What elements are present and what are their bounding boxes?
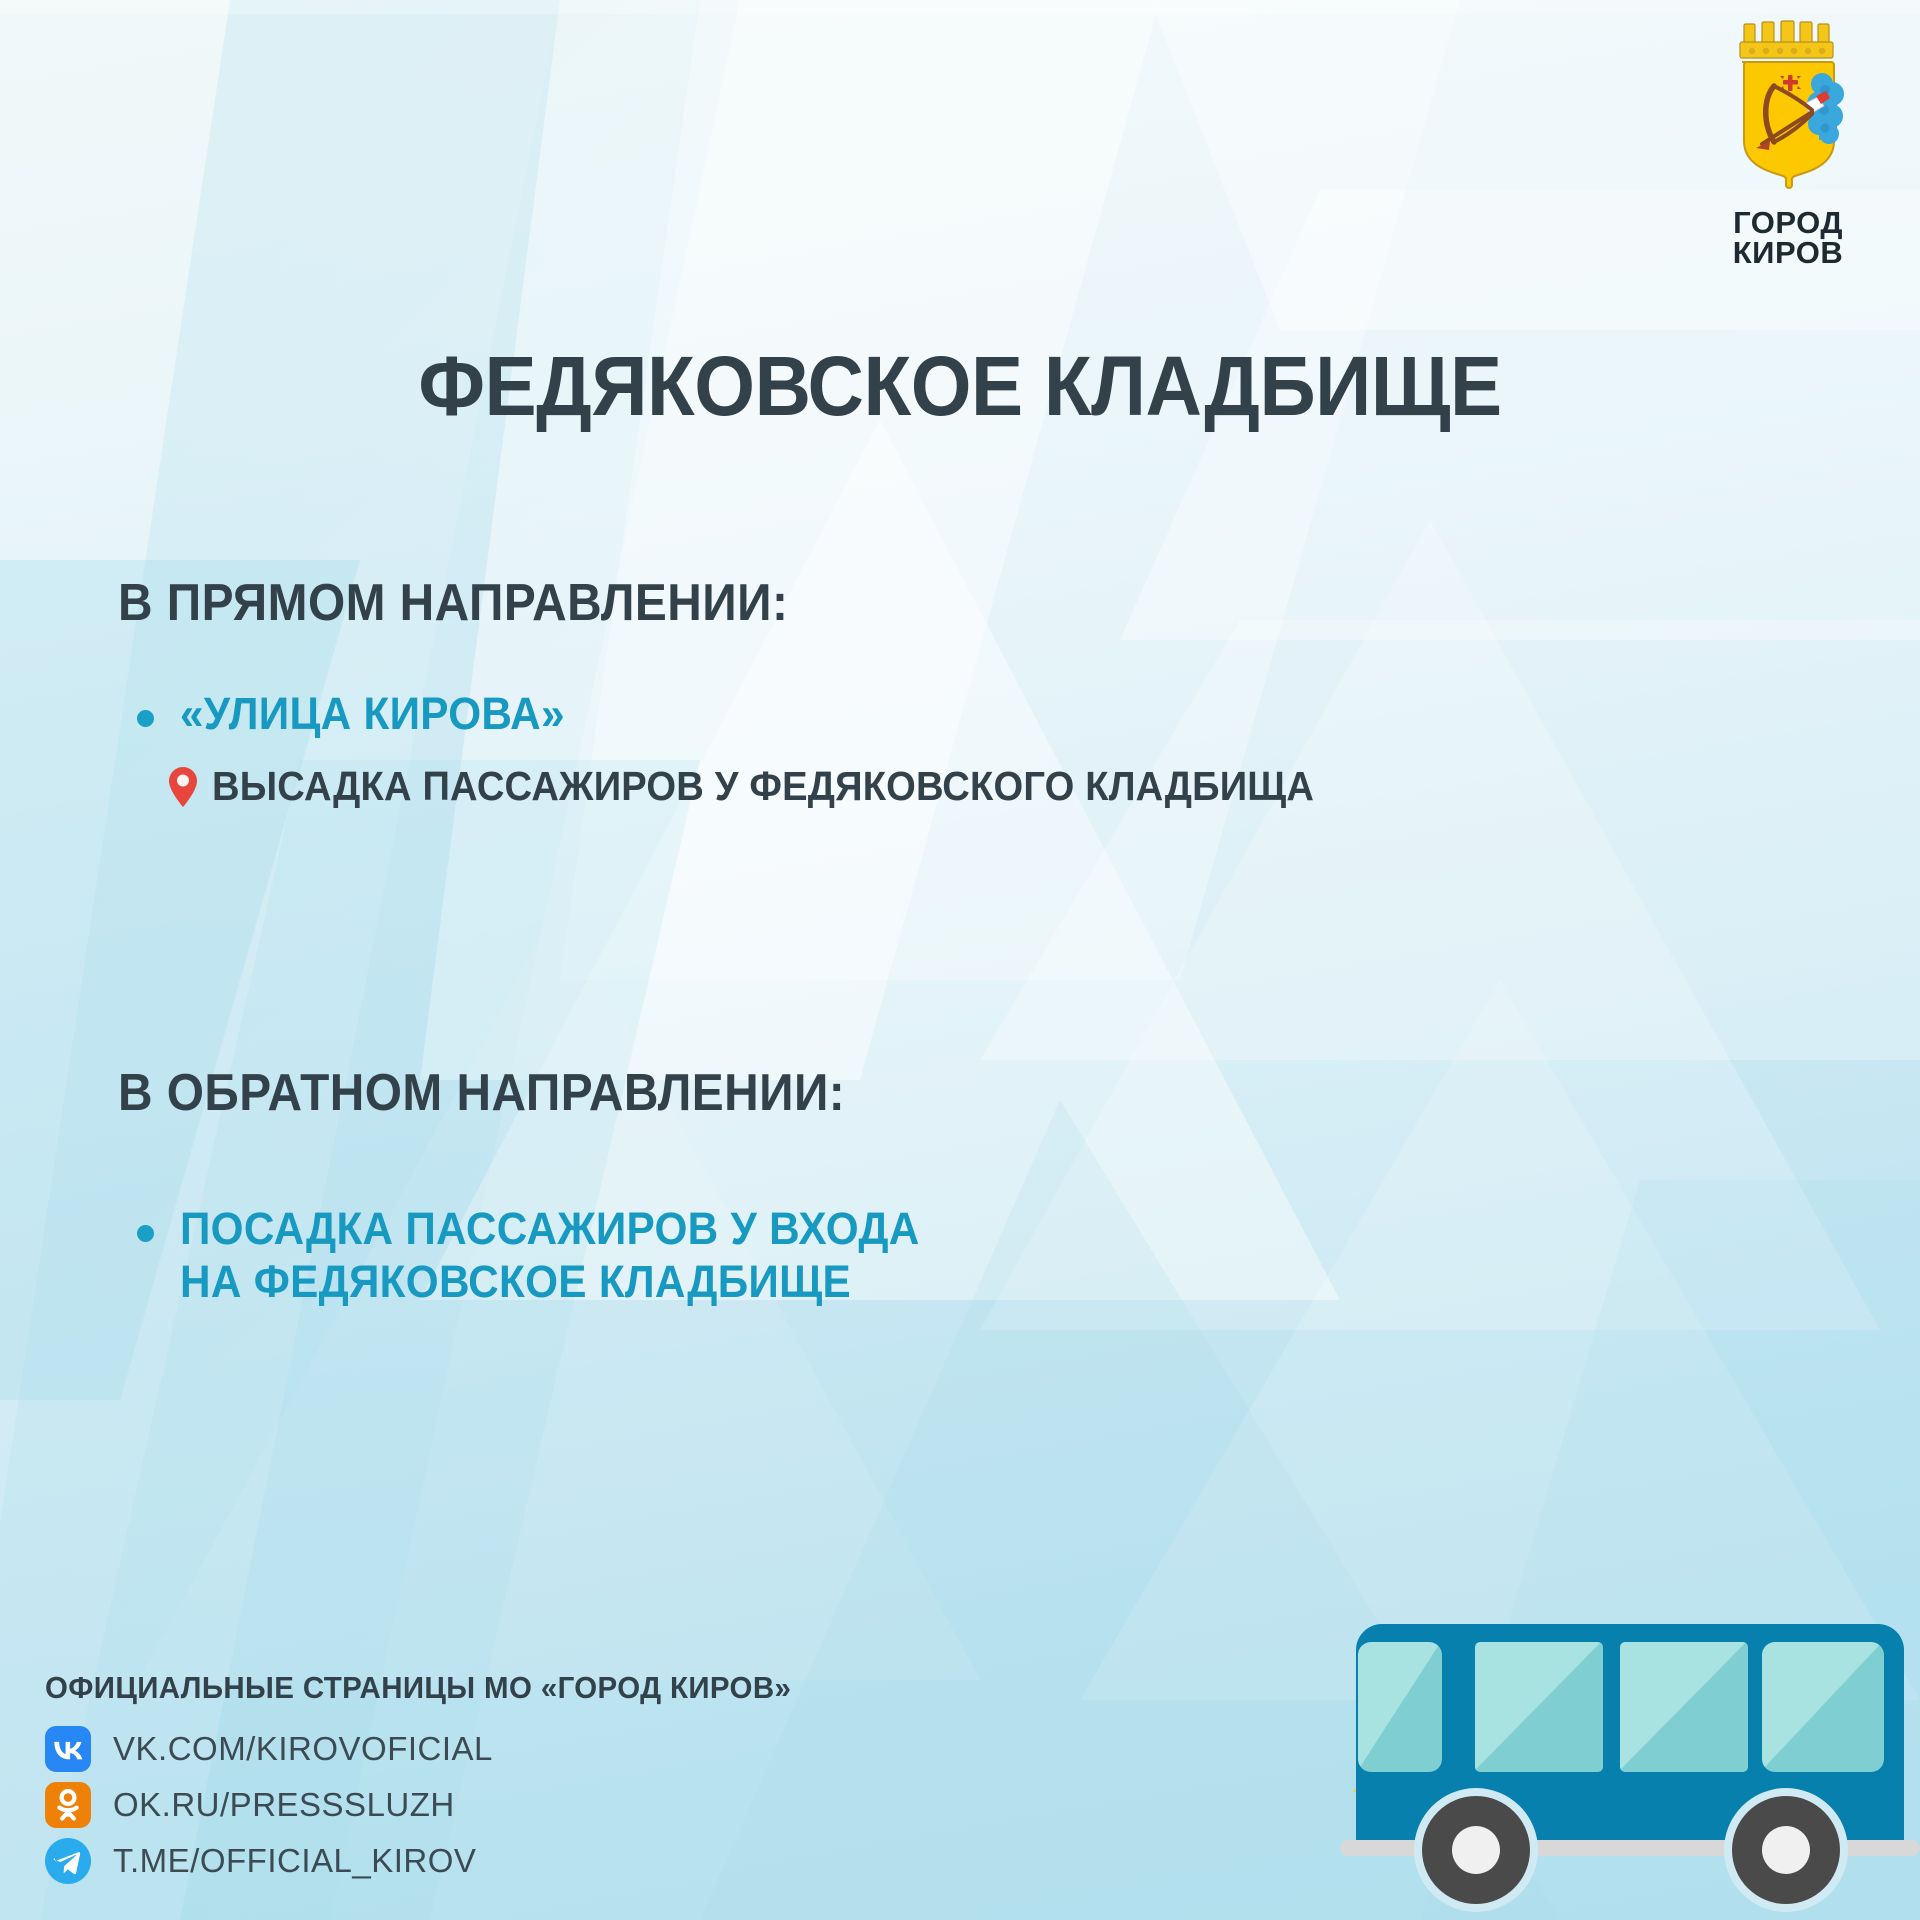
poster-canvas: ГОРОД КИРОВ ФЕДЯКОВСКОЕ КЛАДБИЩЕ В ПРЯМО… [0,0,1920,1920]
footer: ОФИЦИАЛЬНЫЕ СТРАНИЦЫ МО «ГОРОД КИРОВ» VK… [45,1670,1045,1886]
city-logo: ГОРОД КИРОВ [1698,18,1878,268]
social-link-vk[interactable]: VK.COM/KIROVOFICIAL [45,1724,1045,1774]
stop-name-reverse: ПОСАДКА ПАССАЖИРОВ У ВХОДА НА ФЕДЯКОВСКО… [180,1203,920,1308]
vk-icon [45,1726,91,1772]
page-title: ФЕДЯКОВСКОЕ КЛАДБИЩЕ [67,338,1853,435]
stop-detail-text-forward: ВЫСАДКА ПАССАЖИРОВ У ФЕДЯКОВСКОГО КЛАДБИ… [212,763,1314,810]
map-pin-icon [168,766,198,808]
stop-name-reverse-line-1: ПОСАДКА ПАССАЖИРОВ У ВХОДА [180,1203,920,1256]
ok-icon [45,1782,91,1828]
bullet-dot-icon [137,710,154,727]
section-heading-reverse: В ОБРАТНОМ НАПРАВЛЕНИИ: [118,1063,845,1123]
city-logo-text: ГОРОД КИРОВ [1698,208,1878,268]
social-link-ok[interactable]: OK.RU/PRESSSLUZH [45,1780,1045,1830]
stop-name-reverse-line-2: НА ФЕДЯКОВСКОЕ КЛАДБИЩЕ [180,1256,920,1309]
telegram-icon [45,1838,91,1884]
social-label-ok: OK.RU/PRESSSLUZH [113,1786,455,1824]
stop-name-forward: «УЛИЦА КИРОВА» [180,688,565,740]
logo-line-2: КИРОВ [1698,238,1878,268]
social-label-vk: VK.COM/KIROVOFICIAL [113,1730,493,1768]
stop-item-forward: «УЛИЦА КИРОВА» [137,688,589,740]
footer-title: ОФИЦИАЛЬНЫЕ СТРАНИЦЫ МО «ГОРОД КИРОВ» [45,1670,995,1706]
section-heading-forward: В ПРЯМОМ НАПРАВЛЕНИИ: [118,573,788,633]
bullet-dot-icon [137,1225,154,1242]
bus-icon [1330,1578,1920,1920]
bus-illustration [1330,1578,1920,1920]
logo-line-1: ГОРОД [1698,208,1878,238]
stop-detail-forward: ВЫСАДКА ПАССАЖИРОВ У ФЕДЯКОВСКОГО КЛАДБИ… [168,763,1397,810]
social-label-telegram: T.ME/OFFICIAL_KIROV [113,1842,476,1880]
stop-item-reverse: ПОСАДКА ПАССАЖИРОВ У ВХОДА НА ФЕДЯКОВСКО… [137,1203,967,1308]
kirov-coat-of-arms-icon [1726,18,1850,204]
social-link-telegram[interactable]: T.ME/OFFICIAL_KIROV [45,1836,1045,1886]
